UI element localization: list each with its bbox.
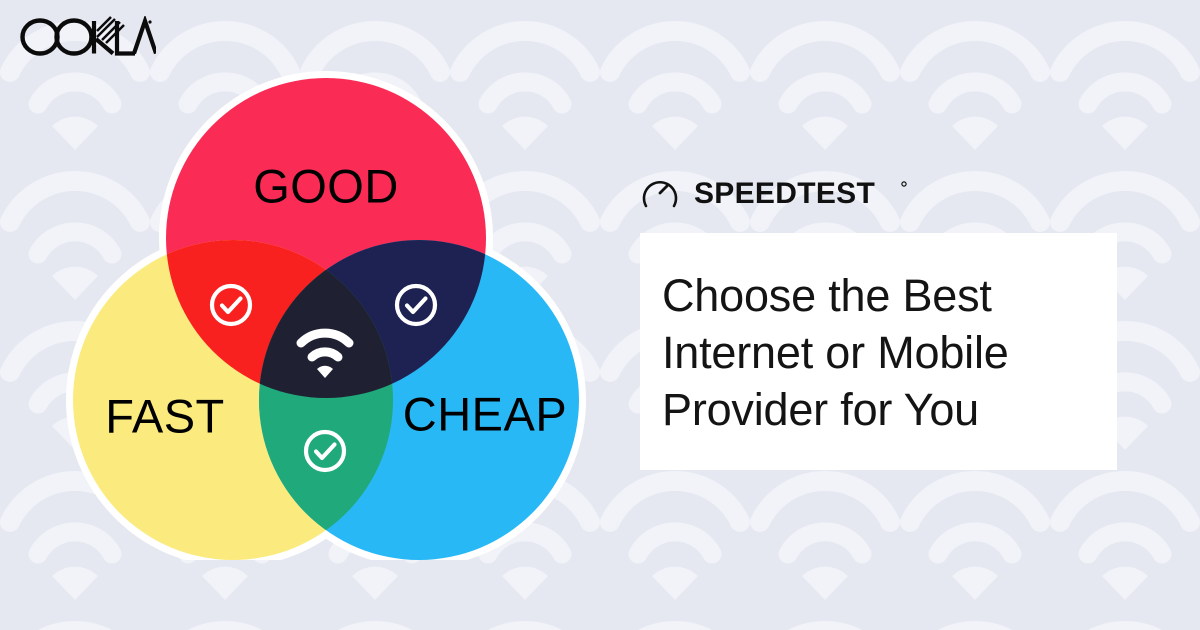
speedtest-logo[interactable]: SPEEDTEST [640,168,1120,216]
ookla-letter-l [117,21,135,54]
ookla-logo[interactable] [16,16,156,58]
venn-label-good: GOOD [253,159,399,212]
speedtest-wordmark: SPEEDTEST [694,177,875,210]
page-title: Choose the Best Internet or Mobile Provi… [662,267,1117,438]
right-content-column: SPEEDTEST Choose the Best Internet or Mo… [640,168,1120,470]
ookla-trademark-mark [148,20,151,23]
venn-label-fast: FAST [105,389,225,442]
speedometer-gauge-icon [644,182,676,206]
ookla-k-rays [97,17,124,43]
ookla-letter-o2 [57,21,92,54]
speedtest-trademark-mark [902,182,906,186]
ookla-letter-a [134,21,156,54]
headline-card: Choose the Best Internet or Mobile Provi… [640,233,1117,470]
venn-label-cheap: CHEAP [403,387,567,440]
ookla-letter-o1 [23,21,58,54]
poster-canvas: GOOD FAST CHEAP [0,0,1200,630]
venn-diagram: GOOD FAST CHEAP [48,60,604,560]
